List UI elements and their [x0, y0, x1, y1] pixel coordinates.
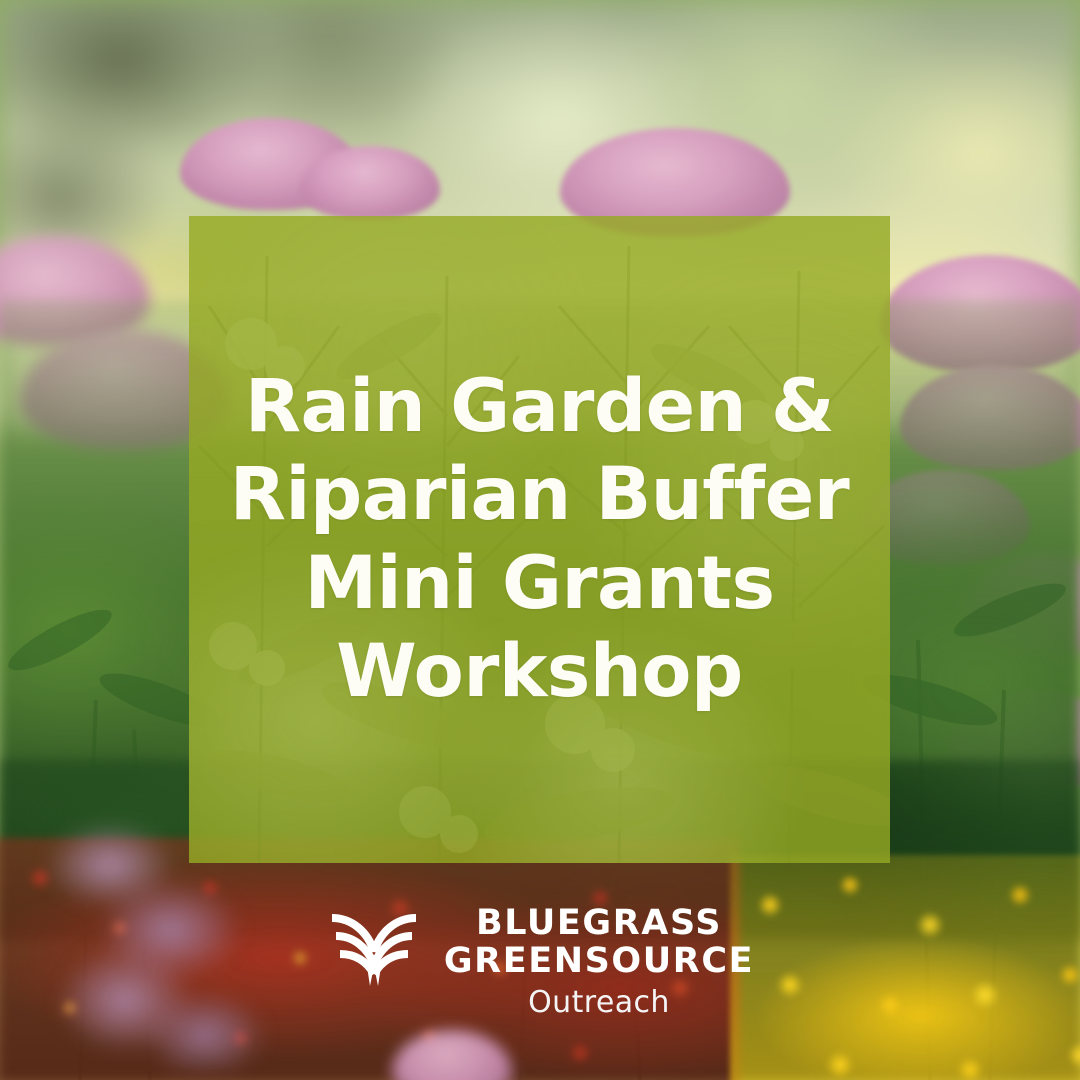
title-overlay-panel: Rain Garden & Riparian Buffer Mini Grant…: [189, 216, 890, 863]
wordmark-line-1: BLUEGRASS: [476, 905, 722, 943]
event-promo-canvas: Rain Garden & Riparian Buffer Mini Grant…: [0, 0, 1080, 1080]
brand-wordmark: BLUEGRASS GREENSOURCE Outreach: [444, 905, 754, 1020]
title-line-3: Mini Grants: [304, 541, 774, 627]
title-line-2: Riparian Buffer: [230, 452, 850, 538]
brand-logo-lockup: BLUEGRASS GREENSOURCE Outreach: [0, 905, 1080, 1020]
wordmark-line-2: GREENSOURCE: [444, 943, 754, 981]
event-title: Rain Garden & Riparian Buffer Mini Grant…: [189, 216, 890, 863]
bluegrass-greensource-arc-mark-icon: [326, 908, 422, 988]
wordmark-tagline: Outreach: [528, 985, 670, 1020]
title-line-1: Rain Garden &: [245, 364, 834, 450]
title-line-4: Workshop: [336, 629, 742, 715]
